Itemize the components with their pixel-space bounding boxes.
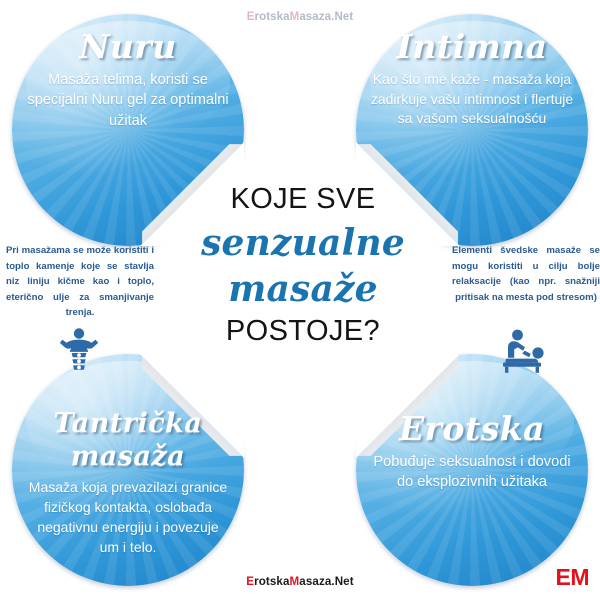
- headline-line-4: POSTOJE?: [180, 316, 426, 347]
- watermark-e: E: [247, 11, 255, 23]
- sticker-erotska[interactable]: Erotska Pobuđuje seksualnost i dovodi do…: [356, 354, 588, 586]
- sticker-content: Tantrička masaža Masaža koja prevazilazi…: [12, 354, 244, 586]
- sticker-body: Pobuđuje seksualnost i dovodi do eksploz…: [370, 452, 574, 493]
- footer-brand-rest: asaza.Net: [299, 575, 353, 588]
- headline-line-2: senzualne: [180, 221, 426, 266]
- sticker-tantricka[interactable]: Tantrička masaža Masaža koja prevazilazi…: [12, 354, 244, 586]
- footer-brand-rotska: rotska: [254, 575, 289, 588]
- top-watermark: ErotskaMasaza.Net: [0, 11, 600, 23]
- headline-line-3: masaže: [180, 268, 426, 312]
- footer-brand-e: E: [246, 575, 254, 588]
- side-note-right: Elementi švedske masaže se mogu koristit…: [452, 243, 600, 305]
- sticker-title: Nuru: [79, 30, 177, 64]
- hot-stones-person-icon: [48, 327, 110, 373]
- sticker-title: Intimna: [396, 30, 547, 64]
- sticker-body: Kao što ime kaže - masaža koja zadirkuje…: [370, 70, 574, 130]
- watermark-rotska: rotska: [255, 11, 290, 23]
- sticker-body: Masaža telima, koristi se specijalni Nur…: [26, 70, 230, 132]
- massage-table-icon: [494, 328, 556, 374]
- center-headline: KOJE SVE senzualne masaže POSTOJE?: [180, 184, 426, 346]
- sticker-title: Tantrička masaža: [54, 408, 203, 474]
- sticker-content: Erotska Pobuđuje seksualnost i dovodi do…: [356, 354, 588, 586]
- footer-brand: ErotskaMasaza.Net: [0, 575, 600, 588]
- sticker-title: Erotska: [399, 412, 545, 446]
- watermark-m: M: [290, 11, 300, 23]
- infographic-canvas: ErotskaMasaza.Net Nuru Masaža telima, ko…: [0, 0, 600, 600]
- watermark-rest: asaza.Net: [299, 11, 353, 23]
- em-logo: EM: [556, 564, 590, 591]
- sticker-body: Masaža koja prevazilazi granice fizičkog…: [26, 478, 230, 558]
- footer-brand-m: M: [290, 575, 300, 588]
- side-note-left: Pri masažama se može koristiti i toplo k…: [6, 243, 154, 321]
- headline-line-1: KOJE SVE: [180, 184, 426, 215]
